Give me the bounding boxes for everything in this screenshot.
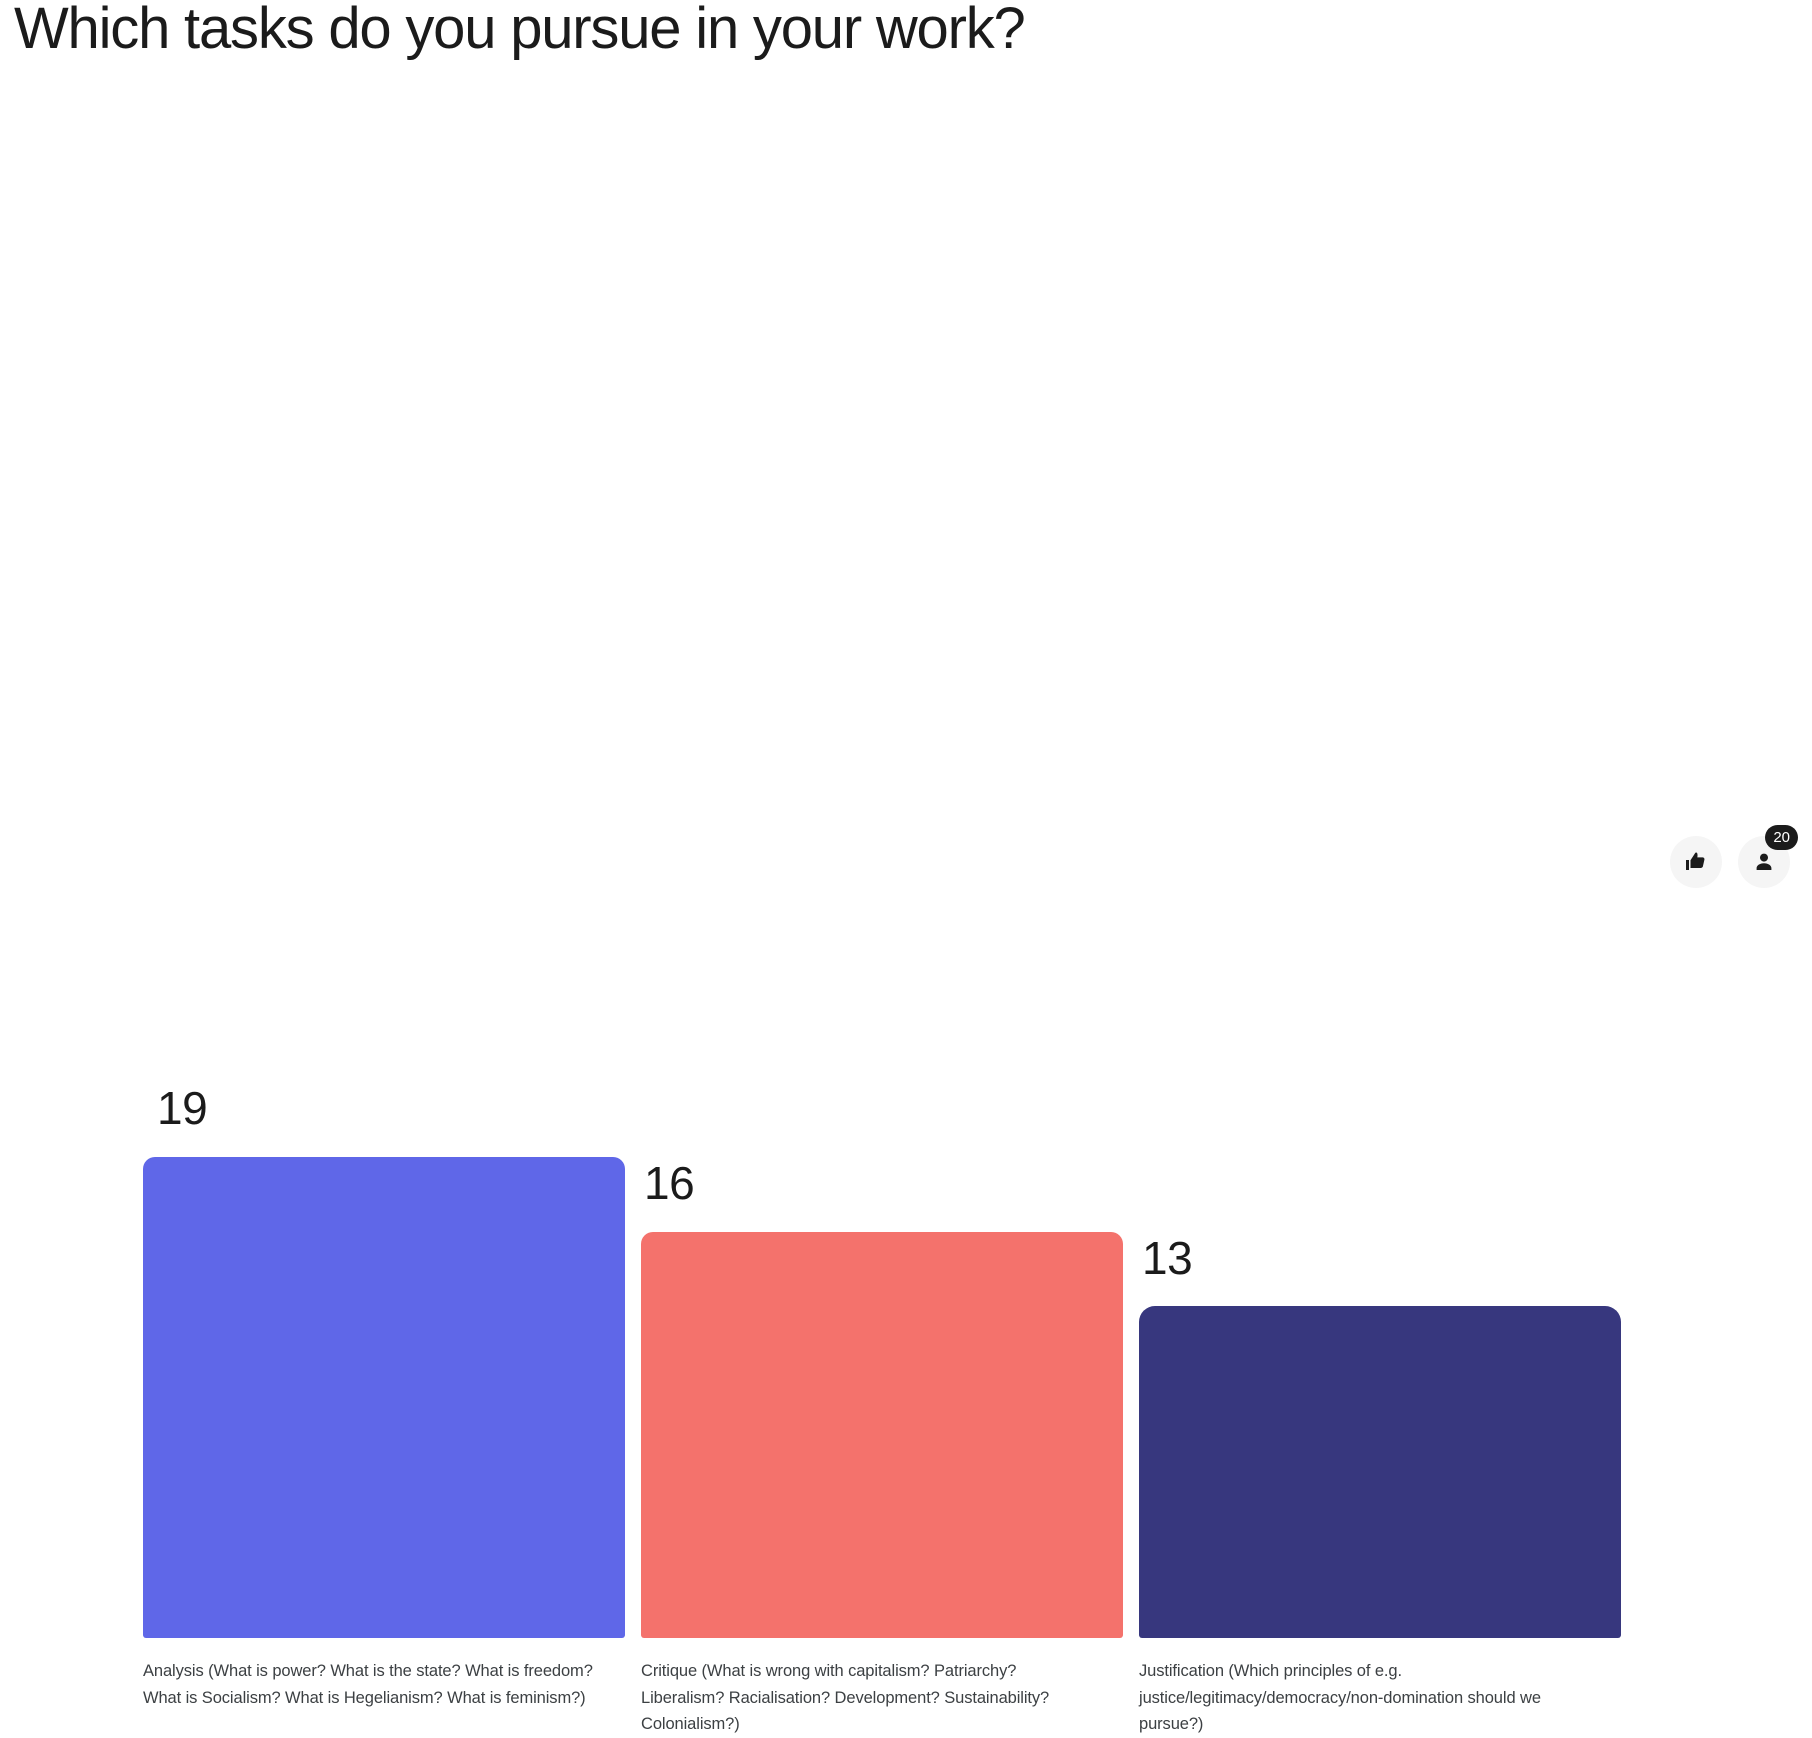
bar-rect-1[interactable]	[143, 1157, 625, 1638]
participants-count-badge: 20	[1765, 825, 1798, 850]
bar-chart: 19 Analysis (What is power? What is the …	[0, 0, 1812, 920]
bar-rect-3[interactable]	[1139, 1306, 1621, 1638]
bar-caption-3: Justification (Which principles of e.g. …	[1139, 1658, 1589, 1738]
bottom-controls: 20	[1670, 836, 1790, 888]
person-icon	[1752, 850, 1776, 874]
bar-rect-2[interactable]	[641, 1232, 1123, 1638]
bar-value-2: 16	[644, 1160, 694, 1206]
bar-caption-1: Analysis (What is power? What is the sta…	[143, 1658, 625, 1711]
participants-button[interactable]: 20	[1738, 836, 1790, 888]
bar-value-1: 19	[157, 1085, 207, 1131]
bar-value-3: 13	[1142, 1235, 1192, 1281]
like-button[interactable]	[1670, 836, 1722, 888]
bar-caption-2: Critique (What is wrong with capitalism?…	[641, 1658, 1081, 1738]
thumbs-up-icon	[1684, 850, 1708, 874]
